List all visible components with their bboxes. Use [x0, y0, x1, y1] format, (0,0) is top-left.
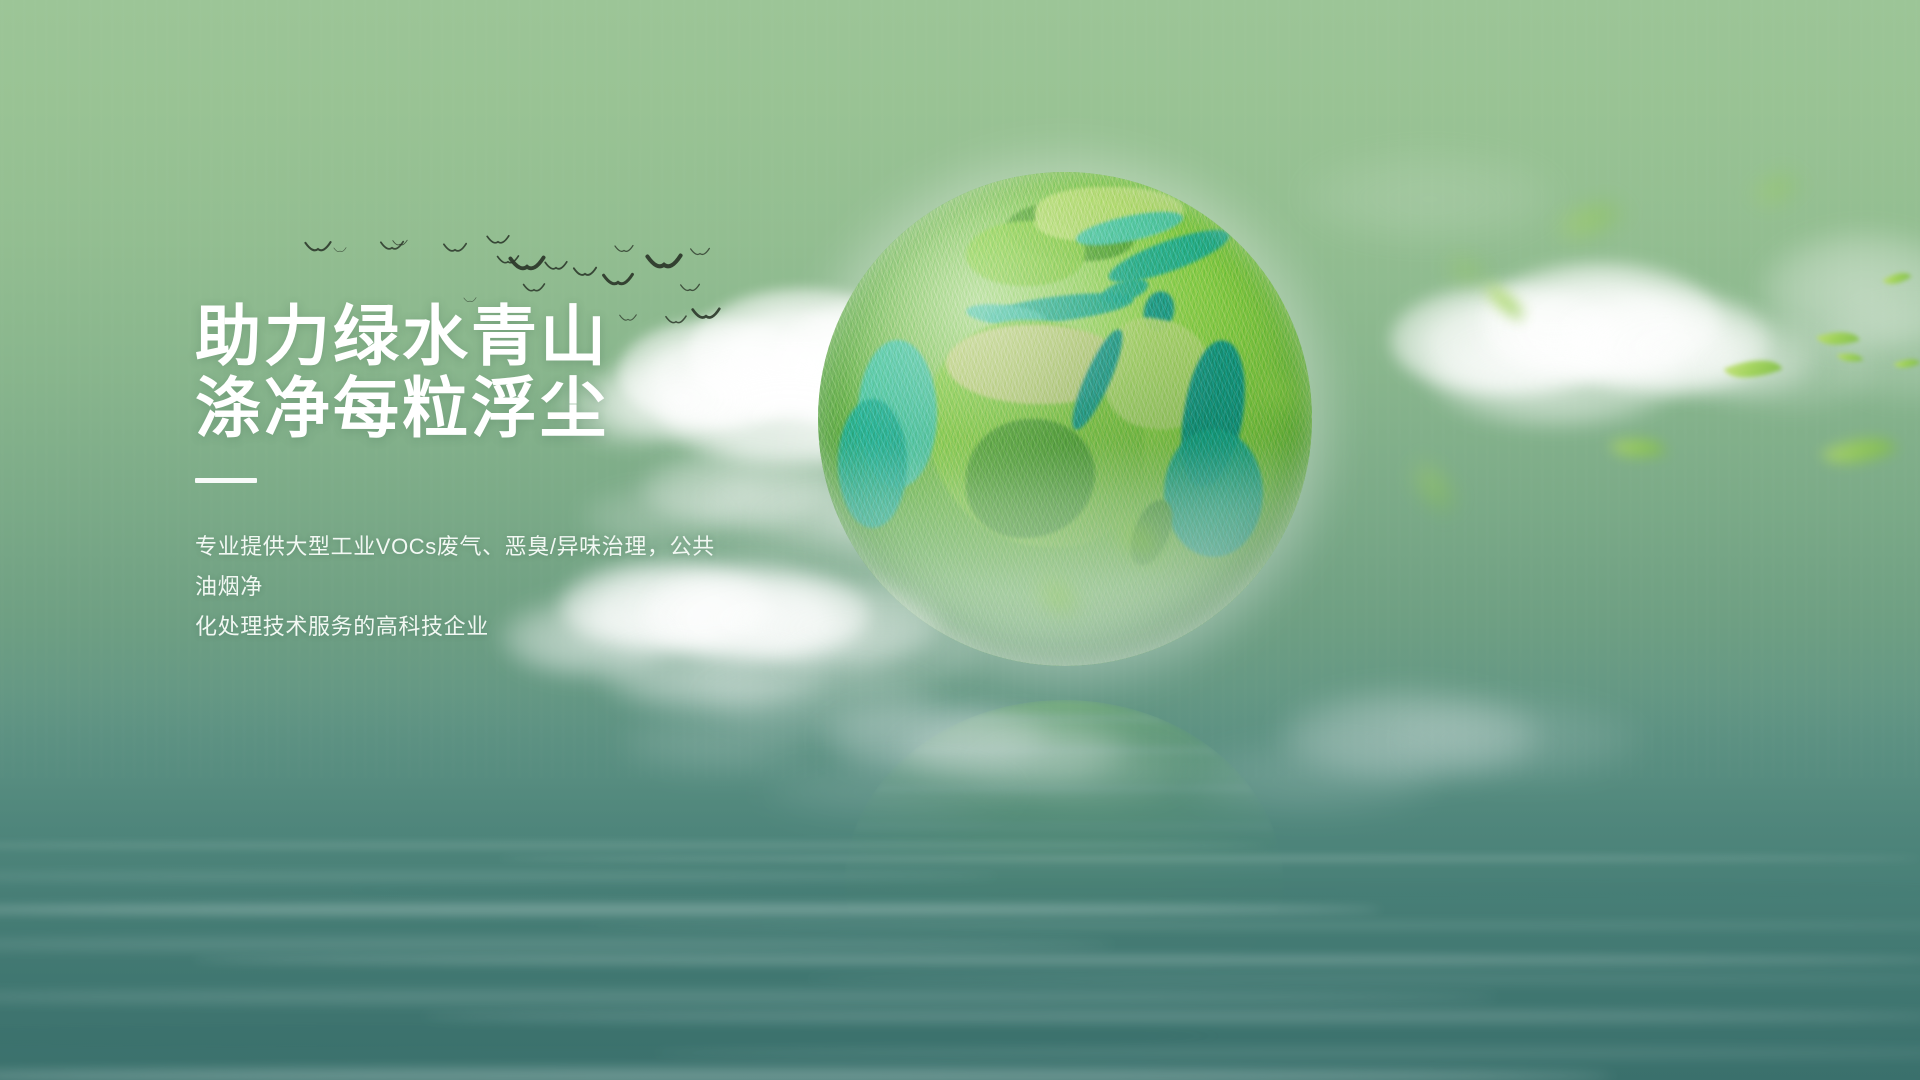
hero-banner: 助力绿水青山 涤净每粒浮尘 专业提供大型工业VOCs废气、恶臭/异味治理，公共油…	[0, 0, 1920, 1080]
subtitle-line-2: 化处理技术服务的高科技企业	[195, 607, 735, 647]
hero-subtitle: 专业提供大型工业VOCs废气、恶臭/异味治理，公共油烟净 化处理技术服务的高科技…	[195, 527, 735, 647]
headline-line-1: 助力绿水青山	[195, 300, 955, 372]
subtitle-line-1: 专业提供大型工业VOCs废气、恶臭/异味治理，公共油烟净	[195, 527, 735, 607]
headline-line-2: 涤净每粒浮尘	[195, 372, 955, 444]
hero-copy: 助力绿水青山 涤净每粒浮尘 专业提供大型工业VOCs废气、恶臭/异味治理，公共油…	[195, 300, 955, 647]
headline-divider	[195, 478, 257, 483]
